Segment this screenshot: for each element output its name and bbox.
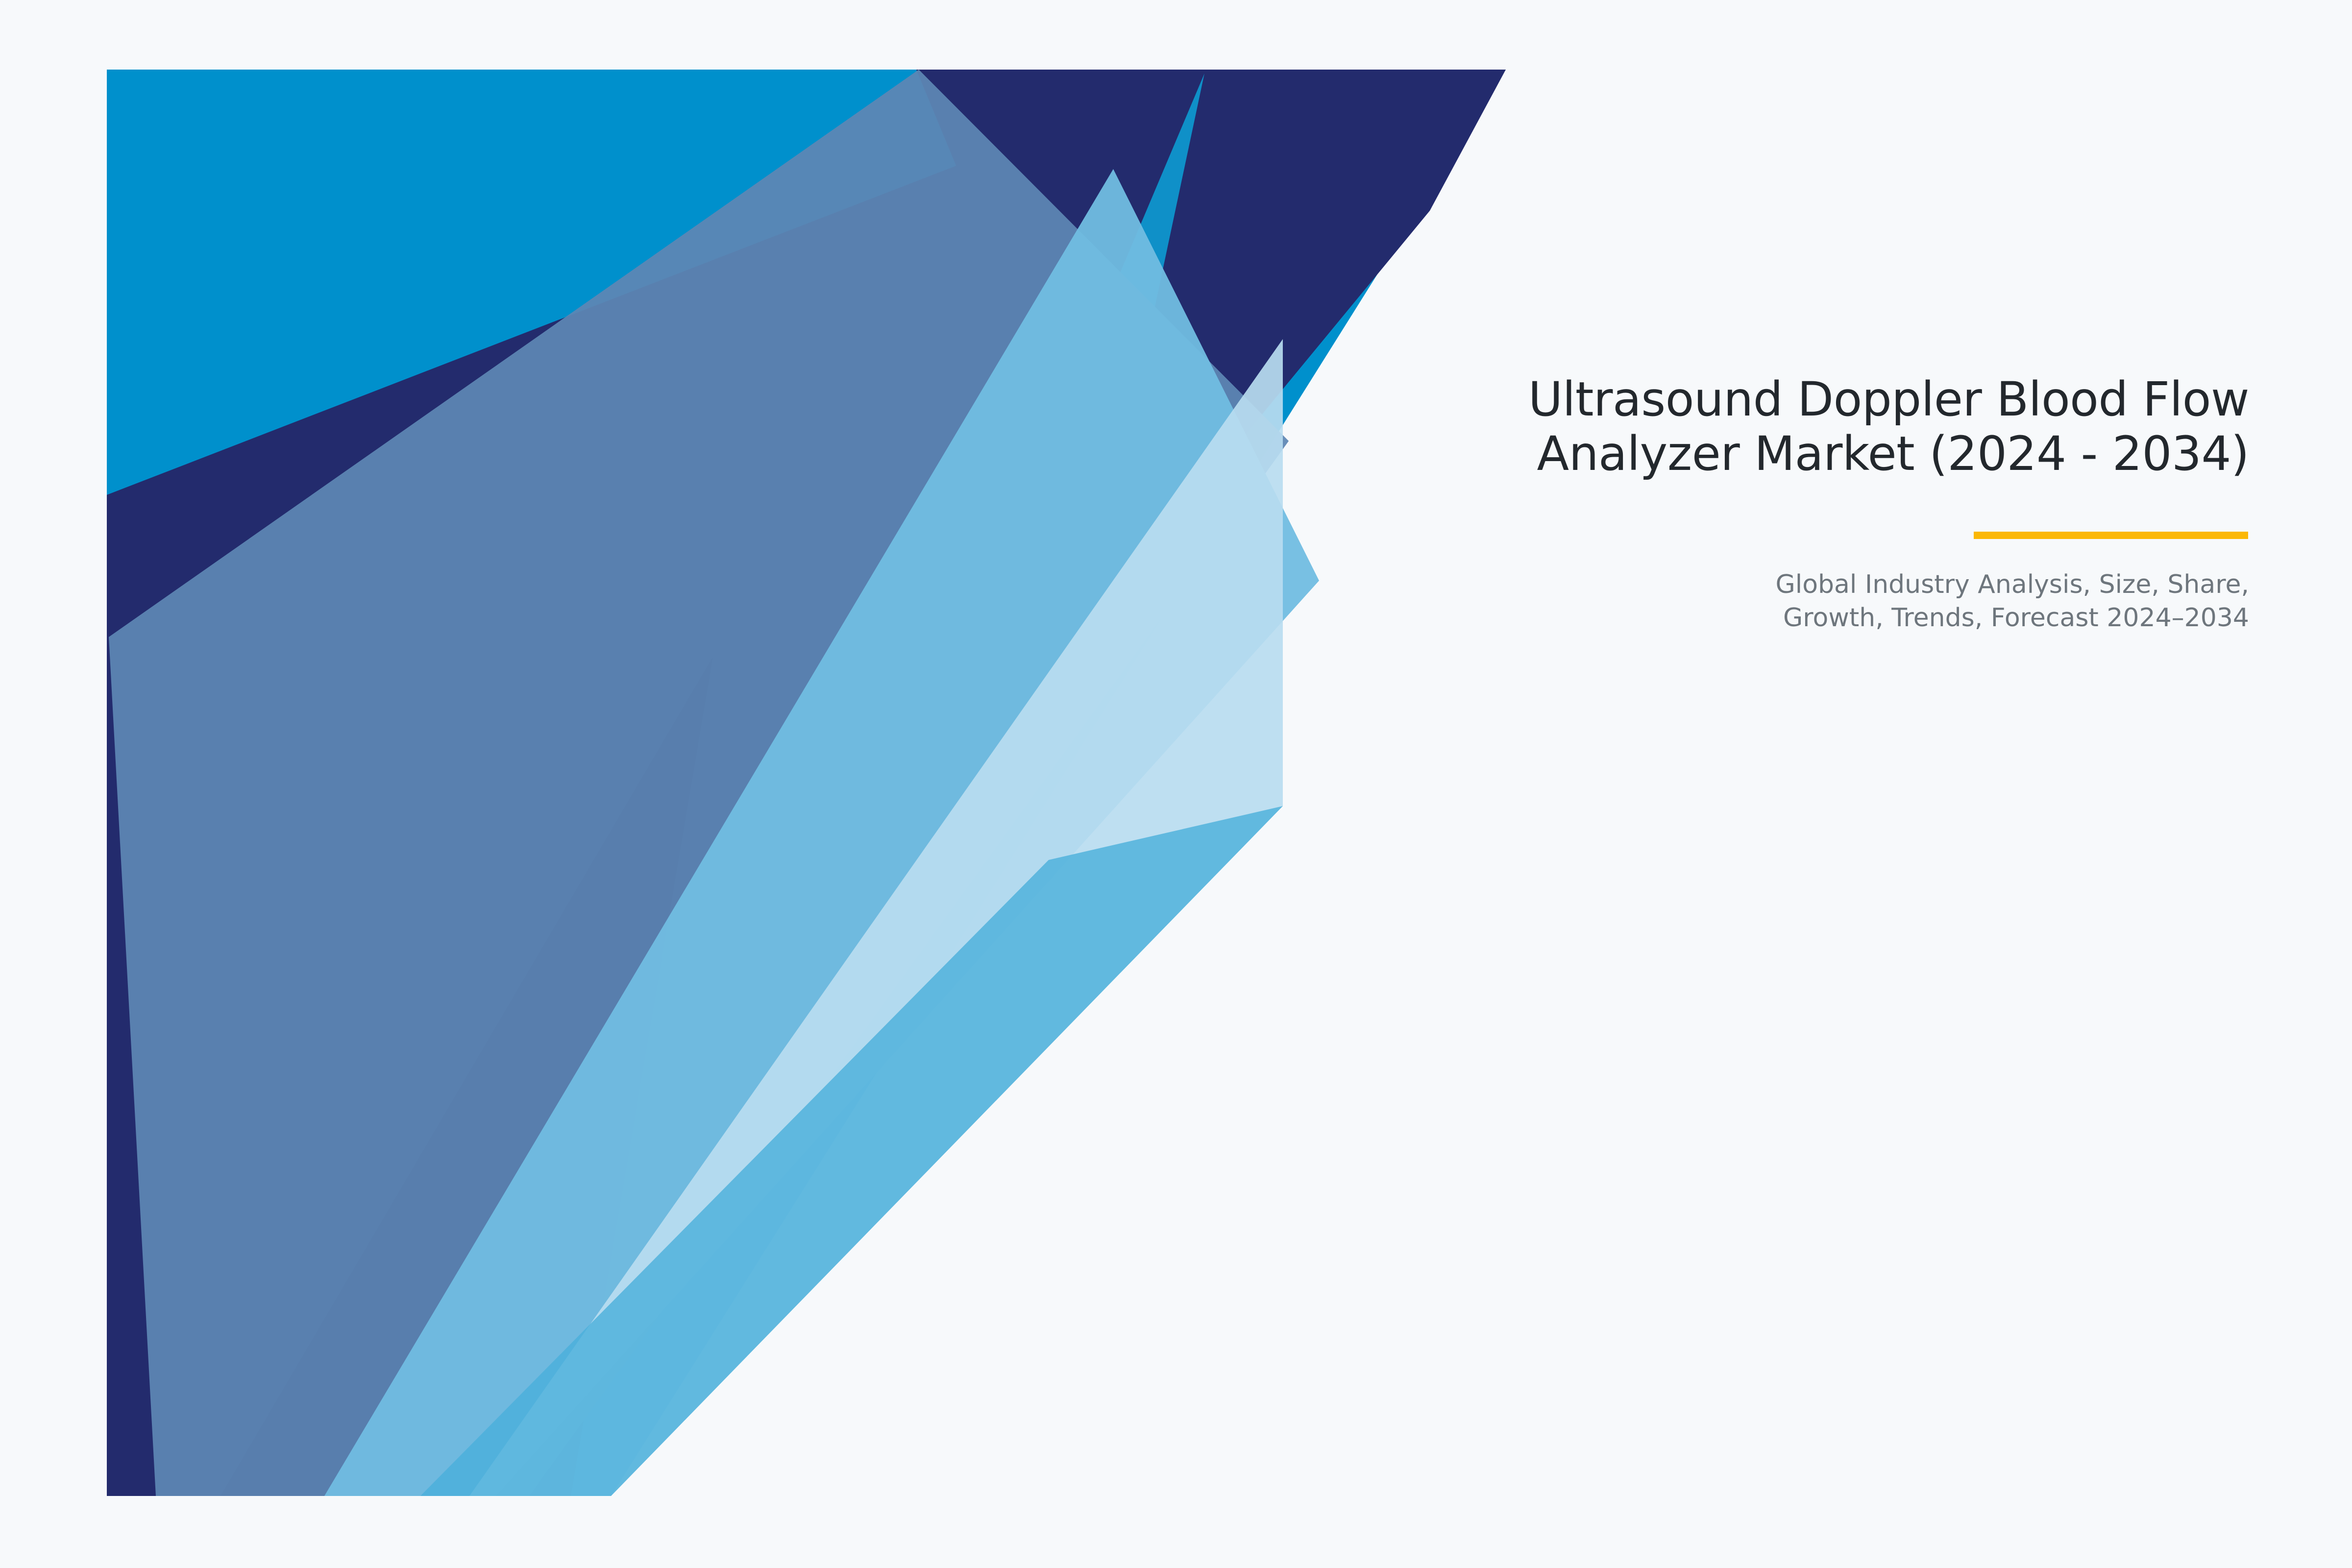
title-block: Ultrasound Doppler Blood Flow Analyzer M… xyxy=(975,372,2249,635)
artwork-shape-group xyxy=(107,70,1506,1496)
report-subtitle: Global Industry Analysis, Size, Share, G… xyxy=(975,482,2249,635)
cover-artwork xyxy=(0,0,2352,1568)
cover-page: Ultrasound Doppler Blood Flow Analyzer M… xyxy=(0,0,2352,1568)
report-title: Ultrasound Doppler Blood Flow Analyzer M… xyxy=(975,372,2249,482)
title-accent-underline xyxy=(1974,532,2248,539)
